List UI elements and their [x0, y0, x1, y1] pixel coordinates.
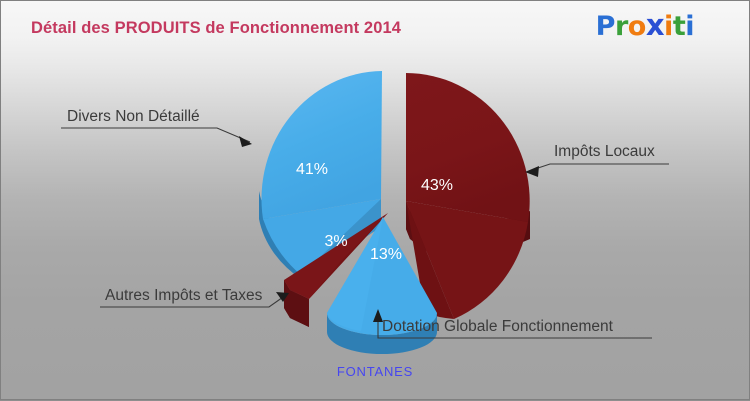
leader-line-impots-locaux [529, 164, 669, 171]
callout-autres-impots-et-taxes[interactable]: Autres Impôts et Taxes [100, 287, 289, 307]
slice-top-divers [262, 71, 382, 219]
callout-label-autres: Autres Impôts et Taxes [105, 287, 263, 304]
callout-label-divers: Divers Non Détaillé [67, 108, 200, 125]
slice-top-impots-locaux [406, 73, 530, 222]
chart-frame: Détail des PRODUITS de Fonctionnement 20… [0, 0, 750, 400]
callout-impots-locaux[interactable]: Impôts Locaux [525, 143, 669, 177]
pie-slice-impots-locaux[interactable]: 43% [406, 73, 530, 319]
callout-divers-non-detaille[interactable]: Divers Non Détaillé [61, 108, 252, 147]
commune-caption: FONTANES [1, 364, 749, 379]
slice-pct-autres: 3% [324, 233, 347, 250]
pie-slice-divers-non-detaille[interactable]: 41% [259, 71, 382, 279]
callout-label-dotation: Dotation Globale Fonctionnement [382, 318, 614, 335]
slice-pct-impots-locaux: 43% [421, 177, 453, 194]
callout-label-impots-locaux: Impôts Locaux [554, 143, 655, 160]
leader-line-divers [61, 128, 250, 142]
slice-pct-divers: 41% [296, 161, 328, 178]
slice-pct-dotation: 13% [370, 246, 402, 263]
pie-chart: 43% 41% 3% 13% Divers [1, 1, 750, 401]
